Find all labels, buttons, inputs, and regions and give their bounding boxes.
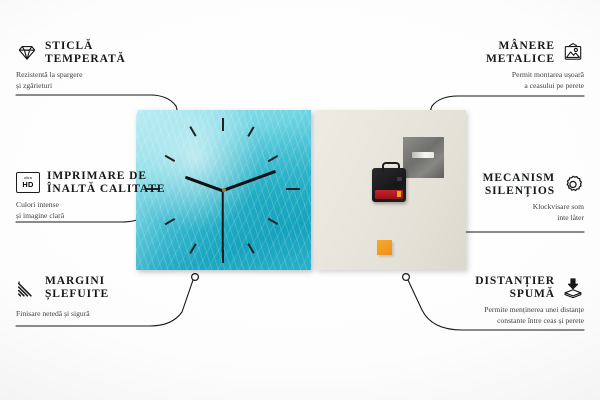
callout-subtitle-line1: Finisare netedă și sigură — [16, 309, 109, 318]
clock-center-pin — [222, 188, 226, 192]
callout-subtitle-line1: Permite menținerea unei distanțe — [475, 305, 584, 314]
callout-heading: ultra HD IMPRIMARE DE ÎNALTĂ CALITATE — [16, 170, 165, 195]
callout-heading: MECANISM SILENȚIOS — [483, 172, 584, 197]
callout-title-line1: MECANISM — [483, 172, 555, 185]
callout-subtitle-line2: inte låter — [483, 213, 584, 222]
second-hand — [222, 191, 224, 253]
callout-title-line1: IMPRIMARE DE — [47, 170, 165, 183]
callout-heading: STICLĂ TEMPERATĂ — [16, 40, 126, 65]
ultra-hd-icon: ultra HD — [16, 172, 40, 193]
leader-endpoint — [403, 274, 410, 281]
callout-title-line1: DISTANȚIER — [475, 275, 555, 288]
metal-hanger-plate — [403, 137, 444, 178]
quartz-mechanism — [372, 168, 406, 202]
callout-subtitle-line2: constante între ceas și perete — [475, 316, 584, 325]
polished-edge-icon — [16, 277, 38, 298]
mechanism-hook — [382, 162, 400, 172]
callout-polished-edges: MARGINI ȘLEFUITE Finisare netedă și sigu… — [16, 275, 109, 319]
callout-subtitle-line1: Rezistentă la spargere — [16, 70, 126, 79]
foam-spacer-icon — [562, 277, 584, 298]
callout-title-line2: SPUMĂ — [475, 288, 555, 301]
gear-icon — [562, 174, 584, 195]
callout-title-line2: SILENȚIOS — [483, 185, 555, 198]
battery — [375, 190, 403, 199]
callout-silent-mechanism: MECANISM SILENȚIOS Klockvisare som inte … — [483, 172, 584, 222]
hanging-frame-icon — [562, 42, 584, 63]
callout-subtitle-line2: și imagine clară — [16, 211, 165, 220]
mechanism-knob — [397, 177, 402, 181]
battery-terminal — [397, 191, 401, 197]
clock-tick — [286, 188, 300, 190]
ultra-hd-icon-big-text: HD — [22, 181, 33, 188]
callout-subtitle-line1: Klockvisare som — [483, 202, 584, 211]
hanger-slot — [412, 152, 434, 158]
callout-subtitle-line2: și zgârieturi — [16, 81, 126, 90]
callout-title-line2: METALICE — [486, 53, 555, 66]
callout-title-line1: MARGINI — [45, 275, 109, 288]
callout-heading: MARGINI ȘLEFUITE — [16, 275, 109, 300]
callout-title-line1: STICLĂ — [45, 40, 126, 53]
callout-hd-print: ultra HD IMPRIMARE DE ÎNALTĂ CALITATE Cu… — [16, 170, 165, 220]
clock-tick — [222, 118, 224, 131]
callout-metal-handles: MÂNERE METALICE Permit montarea ușoară a… — [486, 40, 584, 90]
callout-title-line1: MÂNERE — [486, 40, 555, 53]
foam-spacer — [377, 240, 392, 255]
callout-subtitle-line1: Culori intense — [16, 200, 165, 209]
clock-back-panel — [315, 110, 466, 270]
callout-subtitle-line1: Permit montarea ușoară — [486, 70, 584, 79]
callout-subtitle-line2: a ceasului pe perete — [486, 81, 584, 90]
callout-tempered-glass: STICLĂ TEMPERATĂ Rezistentă la spargere … — [16, 40, 126, 90]
infographic-canvas: STICLĂ TEMPERATĂ Rezistentă la spargere … — [0, 0, 600, 400]
product-image — [136, 110, 466, 270]
callout-title-line2: ȘLEFUITE — [45, 288, 109, 301]
callout-heading: DISTANȚIER SPUMĂ — [475, 275, 584, 300]
callout-title-line2: ÎNALTĂ CALITATE — [47, 183, 165, 196]
callout-foam-spacer: DISTANȚIER SPUMĂ Permite menținerea unei… — [475, 275, 584, 325]
leader-endpoint — [192, 274, 199, 281]
callout-title-line2: TEMPERATĂ — [45, 53, 126, 66]
callout-heading: MÂNERE METALICE — [486, 40, 584, 65]
diamond-icon — [16, 42, 38, 63]
